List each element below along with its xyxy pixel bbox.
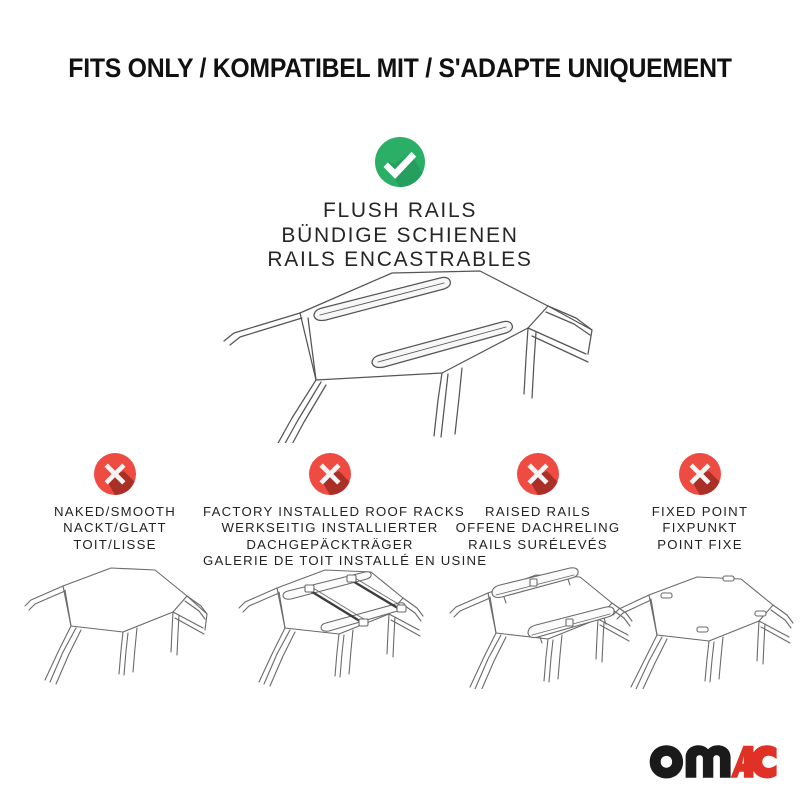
label-line-1: NAKED/SMOOTH — [8, 504, 222, 520]
label-line-2: WERKSEITIG INSTALLIERTER — [203, 520, 457, 536]
car-roof-naked-smooth-illustration — [15, 556, 215, 696]
car-roof-fixed-point-illustration — [605, 549, 795, 694]
logo-letter-o — [650, 745, 683, 778]
label-line-1: FACTORY INSTALLED ROOF RACKS — [203, 504, 457, 520]
logo-letter-c — [751, 745, 777, 778]
incompatible-item-fixed-point: FIXED POINT FIXPUNKT POINT FIXE — [612, 452, 788, 553]
incompatible-item-naked-smooth: NAKED/SMOOTH NACKT/GLATT TOIT/LISSE — [8, 452, 222, 553]
incompatible-labels-naked-smooth: NAKED/SMOOTH NACKT/GLATT TOIT/LISSE — [8, 504, 222, 553]
incompatible-labels-raised-rails: RAISED RAILS OFFENE DACHRELING RAILS SUR… — [437, 504, 639, 553]
label-line-1: FIXED POINT — [612, 504, 788, 520]
page-title: FITS ONLY / KOMPATIBEL MIT / S'ADAPTE UN… — [32, 52, 768, 84]
label-line-2: FIXPUNKT — [612, 520, 788, 536]
label-line-2: OFFENE DACHRELING — [437, 520, 639, 536]
logo-letter-a — [731, 746, 754, 778]
x-circle-icon — [308, 452, 352, 496]
compatible-label-line-1: FLUSH RAILS — [0, 199, 800, 224]
label-line-3: TOIT/LISSE — [8, 537, 222, 553]
incompatible-section: NAKED/SMOOTH NACKT/GLATT TOIT/LISSE — [0, 452, 800, 702]
x-circle-icon — [678, 452, 722, 496]
x-circle-icon — [93, 452, 137, 496]
car-roof-factory-roof-racks-illustration — [225, 540, 435, 695]
incompatible-labels-fixed-point: FIXED POINT FIXPUNKT POINT FIXE — [612, 504, 788, 553]
check-circle-icon — [374, 136, 426, 188]
logo-letter-m — [686, 745, 731, 778]
compatible-section: FLUSH RAILS BÜNDIGE SCHIENEN RAILS ENCAS… — [0, 136, 800, 273]
omac-logo: OMAC — [648, 744, 778, 780]
incompatible-item-raised-rails: RAISED RAILS OFFENE DACHRELING RAILS SUR… — [437, 452, 639, 553]
compatible-label-line-2: BÜNDIGE SCHIENEN — [0, 224, 800, 249]
x-circle-icon — [516, 452, 560, 496]
label-line-2: NACKT/GLATT — [8, 520, 222, 536]
incompatible-item-factory-roof-racks: FACTORY INSTALLED ROOF RACKS WERKSEITIG … — [203, 452, 457, 570]
label-line-1: RAISED RAILS — [437, 504, 639, 520]
car-roof-flush-rails-illustration — [196, 258, 626, 443]
